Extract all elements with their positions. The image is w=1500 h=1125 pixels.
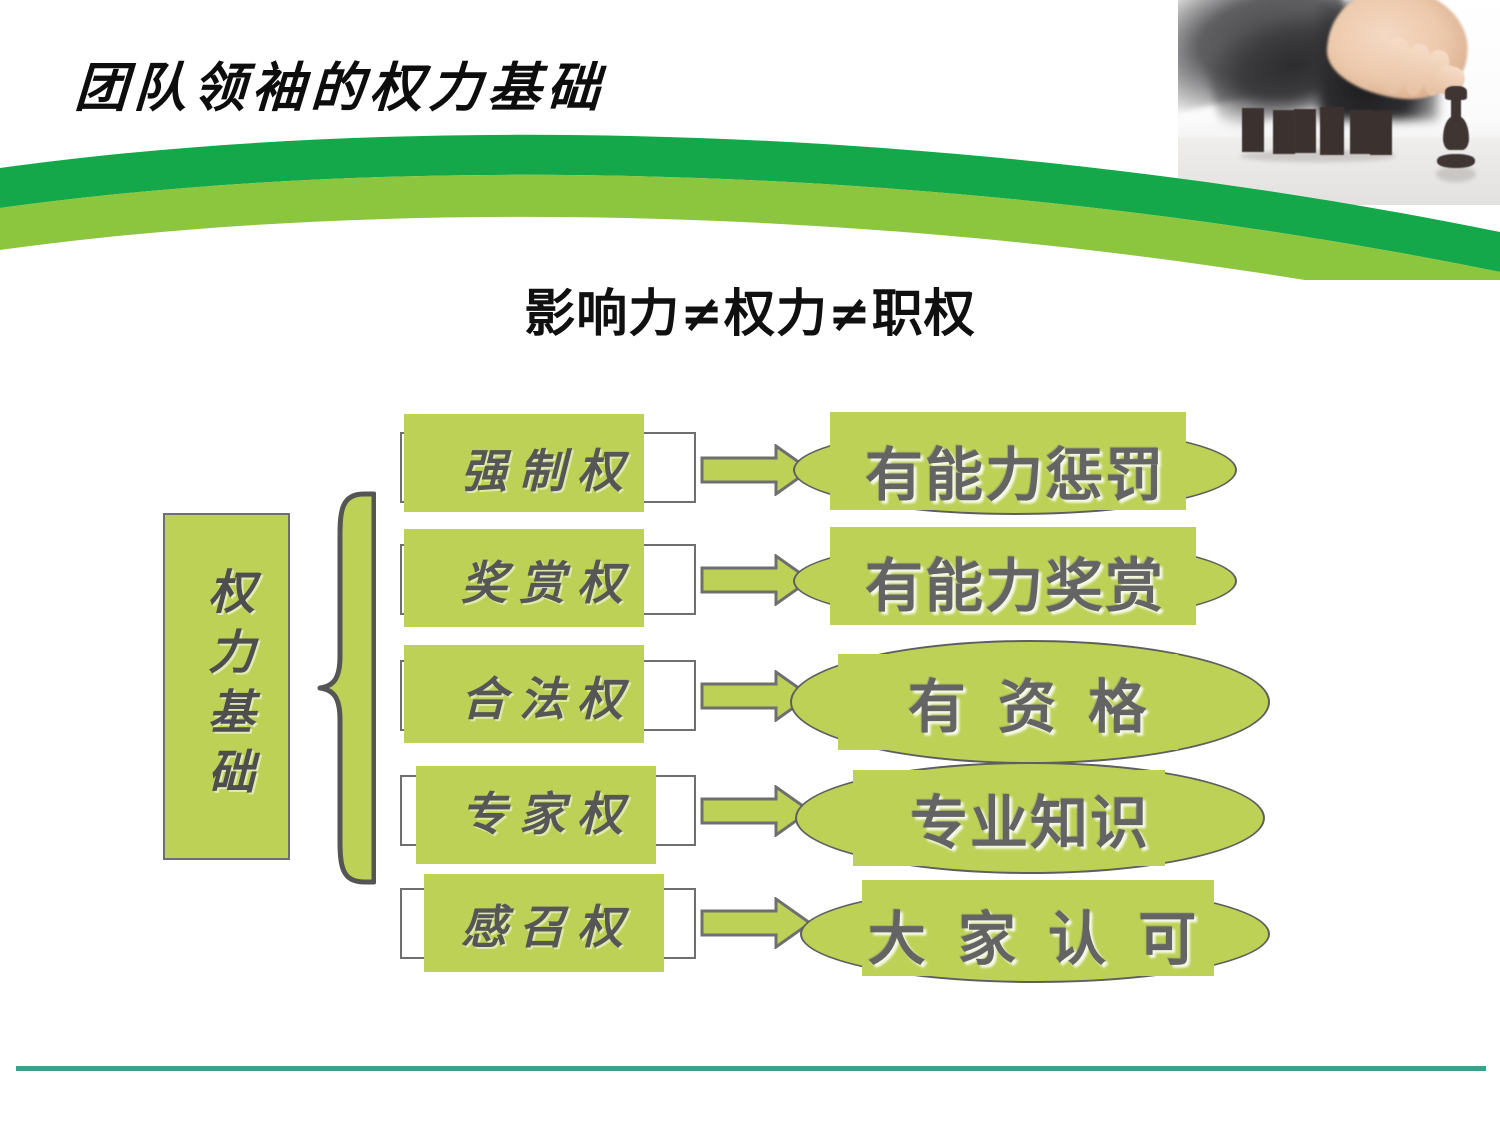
left-curly-brace-icon (316, 488, 376, 888)
power-box-5-label: 感召权 (400, 888, 696, 959)
slide-canvas: 团队领袖的权力基础 影响力≠权力≠职权 权力基础 强制权 (0, 0, 1500, 1125)
power-box-3-label: 合法权 (400, 660, 696, 731)
power-base-diagram: 权力基础 强制权 有能力惩罚 (0, 0, 1500, 1125)
right-block-arrow-icon (700, 897, 812, 949)
result-ellipse-4-label: 专业知识 (795, 762, 1265, 874)
arrow-5 (700, 897, 812, 949)
root-node-label: 权力基础 (165, 515, 288, 858)
brace-svg (316, 488, 376, 888)
bottom-rule (16, 1066, 1486, 1071)
result-ellipse-5-label: 大 家 认 可 (800, 885, 1270, 983)
power-box-4-label: 专家权 (400, 775, 696, 846)
result-ellipse-1-label: 有能力惩罚 (793, 425, 1237, 515)
power-box-2-label: 奖赏权 (400, 544, 696, 615)
power-box-1-label: 强制权 (400, 432, 696, 503)
root-node-box[interactable]: 权力基础 (163, 513, 290, 860)
result-ellipse-2-label: 有能力奖赏 (793, 538, 1237, 624)
result-ellipse-3-label: 有 资 格 (790, 640, 1270, 764)
